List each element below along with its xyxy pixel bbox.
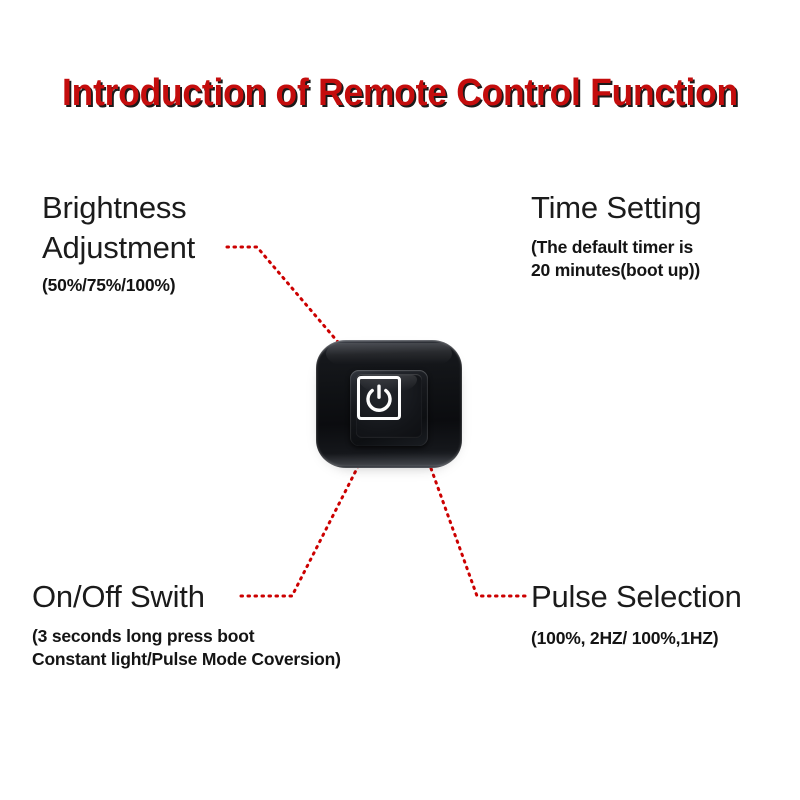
callout-brightness-headline-line2: Adjustment xyxy=(42,228,195,268)
callout-pulse-headline-line1: Pulse Selection xyxy=(531,577,742,617)
callout-pulse-subline1: (100%, 2HZ/ 100%,1HZ) xyxy=(531,627,742,650)
callout-brightness: Brightness Adjustment (50%/75%/100%) xyxy=(42,188,195,297)
callout-pulse-sublines: (100%, 2HZ/ 100%,1HZ) xyxy=(531,627,742,650)
callout-time-subline2: 20 minutes(boot up)) xyxy=(531,259,701,282)
callout-time-headline-line1: Time Setting xyxy=(531,188,701,228)
remote-control-device xyxy=(316,340,462,468)
callout-time-setting: Time Setting (The default timer is 20 mi… xyxy=(531,188,701,282)
illustration-canvas: Introduction of Remote Control Function … xyxy=(0,0,800,800)
callout-pulse-selection: Pulse Selection (100%, 2HZ/ 100%,1HZ) xyxy=(531,577,742,650)
callout-onoff-headline-line1: On/Off Swith xyxy=(32,577,341,617)
power-icon[interactable] xyxy=(363,382,395,414)
callout-onoff-subline1: (3 seconds long press boot xyxy=(32,625,341,648)
callout-time-sublines: (The default timer is 20 minutes(boot up… xyxy=(531,236,701,282)
callout-onoff-switch: On/Off Swith (3 seconds long press boot … xyxy=(32,577,341,671)
callout-time-subline1: (The default timer is xyxy=(531,236,701,259)
callout-brightness-sublines: (50%/75%/100%) xyxy=(42,274,195,297)
callout-onoff-subline2: Constant light/Pulse Mode Coversion) xyxy=(32,648,341,671)
callout-brightness-headline-line1: Brightness xyxy=(42,188,195,228)
page-title: Introduction of Remote Control Function xyxy=(28,72,772,115)
callout-brightness-subline1: (50%/75%/100%) xyxy=(42,274,195,297)
callout-onoff-sublines: (3 seconds long press boot Constant ligh… xyxy=(32,625,341,671)
